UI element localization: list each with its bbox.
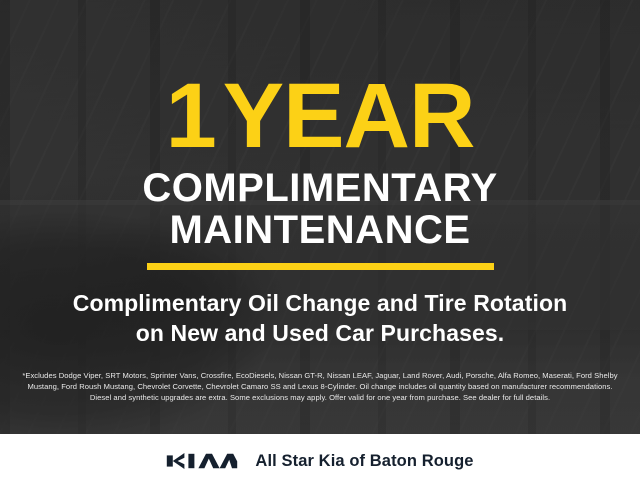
disclaimer-line-2: Mustang, Ford Roush Mustang, Chevrolet C… bbox=[13, 381, 627, 392]
headline-secondary-line2: MAINTENANCE bbox=[142, 209, 497, 251]
disclaimer-text: *Excludes Dodge Viper, SRT Motors, Sprin… bbox=[13, 370, 627, 403]
promotional-banner: 1YEAR COMPLIMENTARY MAINTENANCE Complime… bbox=[0, 0, 640, 488]
offer-line2: on New and Used Car Purchases. bbox=[73, 319, 568, 348]
offer-line1: Complimentary Oil Change and Tire Rotati… bbox=[73, 290, 568, 316]
hero-section: 1YEAR COMPLIMENTARY MAINTENANCE Complime… bbox=[0, 0, 640, 434]
offer-description: Complimentary Oil Change and Tire Rotati… bbox=[73, 289, 568, 348]
disclaimer-line-3: Diesel and synthetic upgrades are extra.… bbox=[13, 392, 627, 403]
headline-secondary-line1: COMPLIMENTARY bbox=[142, 166, 497, 210]
hero-content: 1YEAR COMPLIMENTARY MAINTENANCE Complime… bbox=[0, 0, 640, 434]
kia-logo-icon bbox=[166, 451, 238, 471]
disclaimer-line-1: *Excludes Dodge Viper, SRT Motors, Sprin… bbox=[13, 370, 627, 381]
headline-primary-number: 1 bbox=[166, 65, 223, 167]
dealer-logo-bar: All Star Kia of Baton Rouge bbox=[0, 434, 640, 488]
headline-secondary: COMPLIMENTARY MAINTENANCE bbox=[142, 167, 497, 252]
headline-primary-word: YEAR bbox=[223, 65, 475, 167]
yellow-divider-rule bbox=[147, 263, 494, 270]
headline-primary: 1YEAR bbox=[166, 74, 475, 159]
dealer-name-label: All Star Kia of Baton Rouge bbox=[255, 452, 473, 471]
